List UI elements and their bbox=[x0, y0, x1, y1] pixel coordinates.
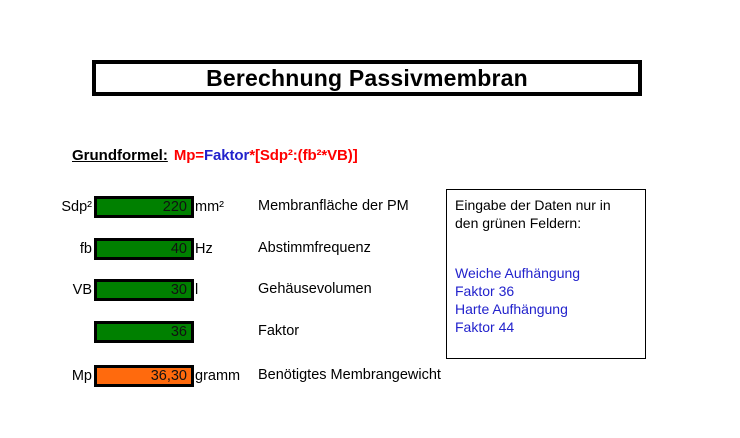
page-title: Berechnung Passivmembran bbox=[206, 65, 528, 92]
calc-row-mp: Mp 36,30 gramm bbox=[0, 363, 240, 389]
input-field-sdp2[interactable]: 220 bbox=[94, 196, 194, 218]
formula-segment-1: Mp= bbox=[174, 147, 204, 164]
row-label-fb: fb bbox=[0, 241, 94, 257]
row-description-sdp2: Membranfläche der PM bbox=[258, 198, 409, 214]
input-field-vb[interactable]: 30 bbox=[94, 279, 194, 301]
input-field-faktor[interactable]: 36 bbox=[94, 321, 194, 343]
row-description-vb: Gehäusevolumen bbox=[258, 281, 372, 297]
formula-row: Grundformel: Mp= Faktor *[Sdp²:(fb²*VB)] bbox=[72, 147, 358, 165]
row-unit-sdp2: mm² bbox=[194, 199, 224, 215]
row-unit-mp: gramm bbox=[194, 368, 240, 384]
info-note-line-1: Weiche Aufhängung bbox=[455, 264, 637, 282]
info-spacer bbox=[455, 232, 637, 264]
row-unit-vb: l bbox=[194, 282, 198, 298]
info-line-1: Eingabe der Daten nur in bbox=[455, 196, 637, 214]
formula-segment-2: Faktor bbox=[204, 147, 249, 164]
info-line-2: den grünen Feldern: bbox=[455, 214, 637, 232]
info-note-line-2: Faktor 36 bbox=[455, 282, 637, 300]
formula-segment-3: *[Sdp²:(fb²*VB)] bbox=[249, 147, 357, 164]
row-description-mp: Benötigtes Membrangewicht bbox=[258, 367, 441, 383]
calc-row-vb: VB 30 l bbox=[0, 277, 198, 303]
calc-row-fb: fb 40 Hz bbox=[0, 236, 213, 262]
formula-label: Grundformel: bbox=[72, 147, 168, 164]
info-note-line-3: Harte Aufhängung bbox=[455, 300, 637, 318]
row-unit-fb: Hz bbox=[194, 241, 213, 257]
calc-row-sdp2: Sdp² 220 mm² bbox=[0, 194, 224, 220]
info-box: Eingabe der Daten nur in den grünen Feld… bbox=[446, 189, 646, 359]
row-label-mp: Mp bbox=[0, 368, 94, 384]
input-field-fb[interactable]: 40 bbox=[94, 238, 194, 260]
info-note-line-4: Faktor 44 bbox=[455, 318, 637, 336]
calc-row-faktor: 36 bbox=[0, 319, 195, 345]
row-label-sdp2: Sdp² bbox=[0, 199, 94, 215]
row-label-vb: VB bbox=[0, 282, 94, 298]
row-description-faktor: Faktor bbox=[258, 323, 299, 339]
result-field-mp: 36,30 bbox=[94, 365, 194, 387]
page-title-box: Berechnung Passivmembran bbox=[92, 60, 642, 96]
row-description-fb: Abstimmfrequenz bbox=[258, 240, 371, 256]
